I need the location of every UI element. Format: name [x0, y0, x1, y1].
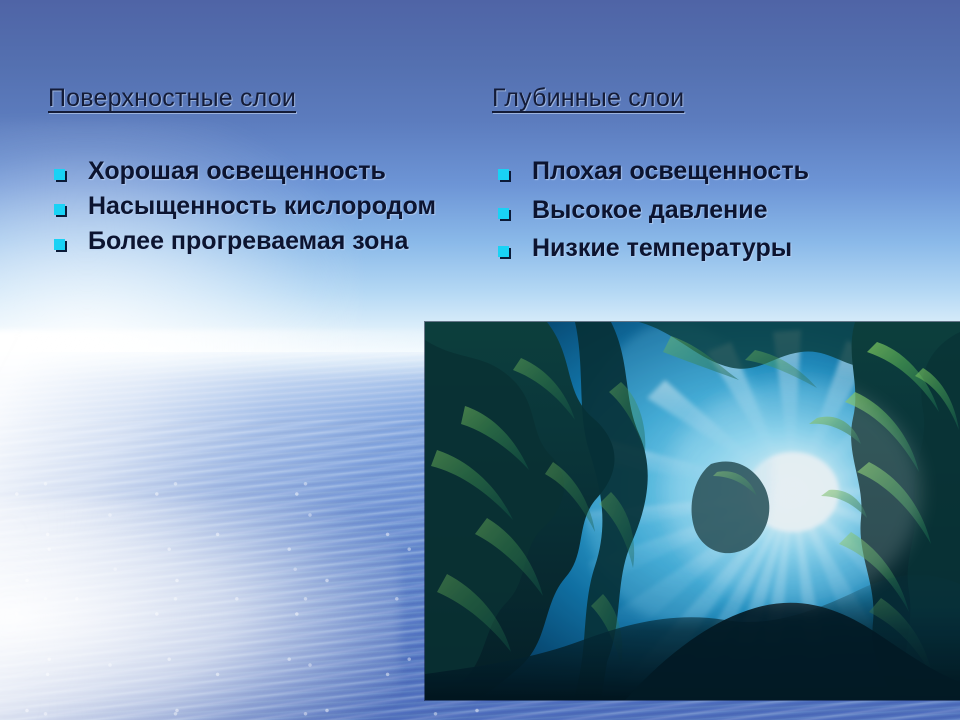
- list-item: Плохая освещенность: [492, 157, 932, 187]
- list-item-label: Насыщенность кислородом: [88, 192, 436, 220]
- bullet-list-deep-layers: Плохая освещенность Высокое давление Низ…: [492, 157, 932, 264]
- list-item-label: Хорошая освещенность: [88, 157, 386, 185]
- slide-canvas: Поверхностные слои Хорошая освещенность …: [0, 0, 960, 720]
- column-deep-layers: Глубинные слои Плохая освещенность Высок…: [492, 84, 932, 264]
- bullet-list-surface-layers: Хорошая освещенность Насыщенность кислор…: [48, 157, 468, 256]
- bullet-square-icon: [54, 239, 65, 250]
- column-surface-layers: Поверхностные слои Хорошая освещенность …: [48, 84, 468, 256]
- column-title-surface-layers: Поверхностные слои: [48, 84, 468, 113]
- list-item: Более прогреваемая зона: [48, 227, 468, 256]
- bullet-square-icon: [54, 169, 65, 180]
- list-item-label: Высокое давление: [532, 196, 768, 224]
- list-item-label: Более прогреваемая зона: [88, 227, 408, 255]
- list-item: Высокое давление: [492, 196, 932, 226]
- column-title-deep-layers: Глубинные слои: [492, 84, 932, 113]
- list-item-label: Плохая освещенность: [532, 157, 809, 185]
- list-item-label: Низкие температуры: [532, 234, 792, 262]
- list-item: Низкие температуры: [492, 234, 932, 264]
- list-item: Хорошая освещенность: [48, 157, 468, 186]
- bullet-square-icon: [54, 204, 65, 215]
- list-item: Насыщенность кислородом: [48, 192, 468, 221]
- bullet-square-icon: [498, 169, 509, 180]
- bullet-square-icon: [498, 246, 509, 257]
- underwater-kelp-forest-photo: [425, 322, 960, 700]
- bullet-square-icon: [498, 208, 509, 219]
